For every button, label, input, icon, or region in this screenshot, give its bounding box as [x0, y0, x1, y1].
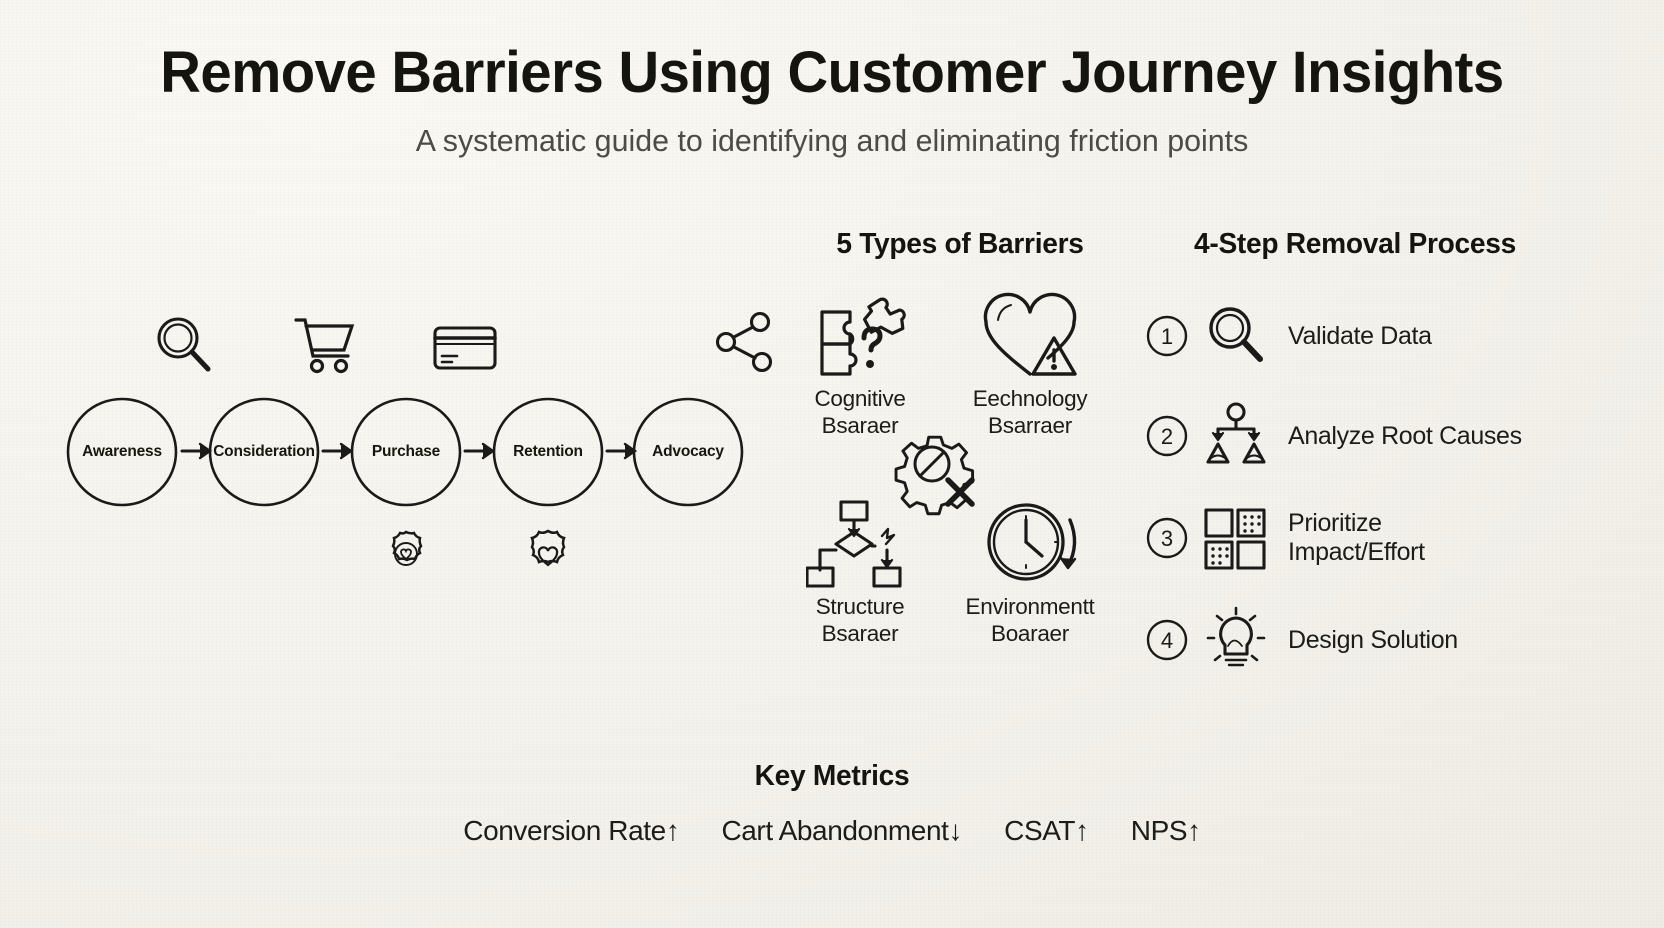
metric-name: NPS: [1131, 815, 1187, 846]
step-label: Design Solution: [1288, 626, 1458, 655]
barrier-label-line1: Structure: [780, 594, 940, 621]
step-label-line1: Prioritize: [1288, 509, 1425, 538]
root-cause-tree-icon: [1200, 400, 1272, 472]
puzzle-question-icon: [806, 290, 914, 382]
removal-process-section: 4-Step Removal Process 1 Validate Data 2: [1140, 228, 1570, 688]
step-label-line1: Analyze Root Causes: [1288, 422, 1522, 451]
rosette-heart-icon: [380, 528, 432, 580]
barriers-section: 5 Types of Barriers Cognitive Bsaraer: [790, 228, 1130, 678]
clock-arrow-icon: [976, 498, 1084, 590]
header: Remove Barriers Using Customer Journey I…: [0, 42, 1664, 159]
metric-csat[interactable]: CSAT↑: [1004, 815, 1089, 847]
process-step-3[interactable]: 3 Prioritize Impact/Effort: [1140, 490, 1570, 586]
journey-stage-label: Awareness: [82, 444, 162, 460]
step-label-line1: Design Solution: [1288, 626, 1458, 655]
journey-stage-retention[interactable]: Retention: [492, 396, 604, 508]
barrier-label-line1: Eechnology: [950, 386, 1110, 413]
shopping-cart-icon: [288, 308, 362, 382]
flowchart-break-icon: [806, 498, 914, 590]
infographic-canvas: Remove Barriers Using Customer Journey I…: [0, 0, 1664, 928]
journey-stage-awareness[interactable]: Awareness: [66, 396, 178, 508]
page-subtitle: A systematic guide to identifying and el…: [17, 123, 1648, 159]
credit-card-icon: [428, 312, 502, 386]
barrier-item-technology[interactable]: Eechnology Bsarraer: [950, 290, 1110, 439]
barrier-item-cognitive[interactable]: Cognitive Bsaraer: [780, 290, 940, 439]
trend-up-icon: ↑: [1075, 815, 1089, 846]
matrix-grid-icon: [1200, 502, 1272, 574]
lightbulb-icon: [1200, 604, 1272, 676]
scalloped-heart-icon: [522, 528, 574, 580]
magnifier-icon: [148, 310, 222, 384]
share-nodes-icon: [708, 308, 782, 382]
metric-nps[interactable]: NPS↑: [1131, 815, 1201, 847]
process-step-1[interactable]: 1 Validate Data: [1140, 296, 1570, 376]
page-title: Remove Barriers Using Customer Journey I…: [25, 42, 1639, 105]
journey-stage-label: Consideration: [213, 444, 315, 460]
journey-stage-advocacy[interactable]: Advocacy: [632, 396, 744, 508]
step-label: Analyze Root Causes: [1288, 422, 1522, 451]
circled-number-3-icon: 3: [1140, 511, 1194, 565]
svg-text:3: 3: [1161, 526, 1173, 551]
customer-journey-flow: Awareness Consideration Purchase: [58, 296, 778, 596]
step-label: Validate Data: [1288, 322, 1432, 351]
circled-number-1-icon: 1: [1140, 309, 1194, 363]
barrier-label-line2: Boaraer: [950, 621, 1110, 648]
metrics-row: Conversion Rate↑ Cart Abandonment↓ CSAT↑…: [0, 815, 1664, 847]
journey-stage-label: Advocacy: [652, 444, 724, 460]
journey-stage-purchase[interactable]: Purchase: [350, 396, 462, 508]
barrier-item-environment[interactable]: Environmentt Boaraer: [950, 498, 1110, 647]
metric-name: Cart Abandonment: [721, 815, 948, 846]
circled-number-4-icon: 4: [1140, 613, 1194, 667]
metric-name: Conversion Rate: [463, 815, 666, 846]
barriers-heading: 5 Types of Barriers: [795, 228, 1125, 261]
trend-up-icon: ↑: [1187, 815, 1201, 846]
metrics-heading: Key Metrics: [25, 760, 1639, 793]
journey-stage-label: Purchase: [372, 444, 440, 460]
process-step-2[interactable]: 2 Analyze Root Causes: [1140, 396, 1570, 476]
trend-down-icon: ↓: [949, 815, 963, 846]
barrier-label-line1: Cognitive: [780, 386, 940, 413]
barrier-label-line1: Environmentt: [950, 594, 1110, 621]
barrier-label: Structure Bsaraer: [780, 594, 940, 647]
metric-name: CSAT: [1004, 815, 1075, 846]
magnifier-icon: [1200, 300, 1272, 372]
barrier-label: Environmentt Boaraer: [950, 594, 1110, 647]
metric-cart-abandonment[interactable]: Cart Abandonment↓: [721, 815, 962, 847]
process-step-4[interactable]: 4 Design Solution: [1140, 600, 1570, 680]
svg-text:2: 2: [1161, 424, 1173, 449]
barrier-item-structure[interactable]: Structure Bsaraer: [780, 498, 940, 647]
step-label-line1: Validate Data: [1288, 322, 1432, 351]
key-metrics-section: Key Metrics Conversion Rate↑ Cart Abando…: [0, 760, 1664, 847]
circled-number-2-icon: 2: [1140, 409, 1194, 463]
step-label: Prioritize Impact/Effort: [1288, 509, 1425, 567]
journey-stage-label: Retention: [513, 444, 583, 460]
barrier-label-line2: Bsaraer: [780, 621, 940, 648]
heart-warning-icon: [976, 290, 1084, 382]
journey-stage-consideration[interactable]: Consideration: [208, 396, 320, 508]
svg-text:4: 4: [1161, 628, 1173, 653]
steps-heading: 4-Step Removal Process: [1146, 228, 1563, 261]
metric-conversion-rate[interactable]: Conversion Rate↑: [463, 815, 679, 847]
trend-up-icon: ↑: [666, 815, 680, 846]
svg-text:1: 1: [1161, 324, 1173, 349]
step-label-line2: Impact/Effort: [1288, 538, 1425, 567]
